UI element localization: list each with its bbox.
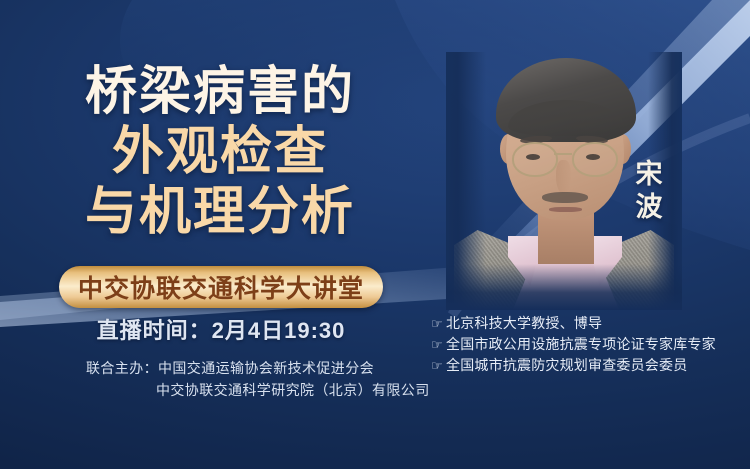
series-badge-label: 中交协联交通科学大讲堂 <box>78 269 364 305</box>
live-time: 直播时间：2月4日19:30 <box>0 313 442 345</box>
portrait-nose <box>556 160 571 194</box>
series-badge: 中交协联交通科学大讲堂 <box>59 266 383 308</box>
webinar-poster: 桥梁病害的 外观检查 与机理分析 中交协联交通科学大讲堂 直播时间：2月4日19… <box>0 0 750 469</box>
portrait-mouth <box>549 207 582 212</box>
portrait-glasses-left <box>512 142 558 177</box>
speaker-name: 宋 波 <box>632 158 666 224</box>
credential-item: ☞ 全国市政公用设施抗震专项论证专家库专家 <box>431 334 747 355</box>
poster-title: 桥梁病害的 外观检查 与机理分析 <box>0 62 440 242</box>
portrait-glasses-bridge <box>554 153 572 155</box>
portrait-hair <box>496 58 636 142</box>
speaker-name-char-2: 波 <box>632 191 666 224</box>
speaker-name-char-1: 宋 <box>632 158 666 191</box>
organizer-line-1: 联合主办：中国交通运输协会新技术促进分会 <box>74 357 444 379</box>
pointing-hand-icon: ☞ <box>431 355 446 376</box>
credential-text: 北京科技大学教授、博导 <box>446 313 602 334</box>
credential-item: ☞ 北京科技大学教授、博导 <box>431 313 747 334</box>
credential-text: 全国市政公用设施抗震专项论证专家库专家 <box>446 334 716 355</box>
title-line-1: 桥梁病害的 <box>0 62 440 122</box>
portrait-moustache <box>542 192 588 203</box>
pointing-hand-icon: ☞ <box>431 334 446 355</box>
credential-item: ☞ 全国城市抗震防灾规划审查委员会委员 <box>431 355 747 376</box>
portrait-glasses-right <box>572 142 618 177</box>
portrait-fade-bottom <box>446 264 682 310</box>
speaker-credentials: ☞ 北京科技大学教授、博导 ☞ 全国市政公用设施抗震专项论证专家库专家 ☞ 全国… <box>431 313 747 376</box>
title-line-3: 与机理分析 <box>0 182 440 242</box>
organizer-line-2: 中交协联交通科学研究院（北京）有限公司 <box>74 379 444 401</box>
credential-text: 全国城市抗震防灾规划审查委员会委员 <box>446 355 687 376</box>
title-line-2: 外观检查 <box>0 122 440 182</box>
pointing-hand-icon: ☞ <box>431 313 446 334</box>
organizers: 联合主办：中国交通运输协会新技术促进分会 中交协联交通科学研究院（北京）有限公司 <box>74 357 444 401</box>
